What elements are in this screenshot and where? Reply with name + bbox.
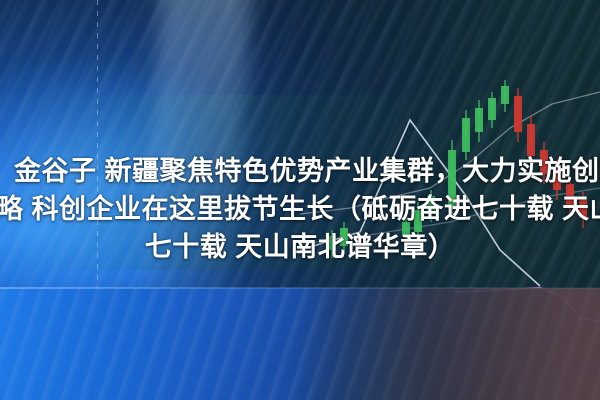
bottom-right-shadow (300, 288, 600, 400)
headline-clip: 金谷子 新疆聚焦特色优势产业集群，大力实施创新 略 科创企业在这里拔节生长（砥砺… (0, 152, 600, 266)
candle-body (514, 96, 522, 132)
headline-line-3: 七十载 天山南北谱华章） (0, 228, 600, 266)
candle-body (488, 98, 496, 120)
banner-image: 金谷子 新疆聚焦特色优势产业集群，大力实施创新 略 科创企业在这里拔节生长（砥砺… (0, 0, 600, 400)
headline-line-2: 略 科创企业在这里拔节生长（砥砺奋进七十载 天山南 (0, 190, 600, 228)
candle-body (501, 86, 509, 104)
band-seam-highlight (0, 287, 600, 289)
candle-body (475, 108, 483, 132)
headline: 金谷子 新疆聚焦特色优势产业集群，大力实施创新 略 科创企业在这里拔节生长（砥砺… (0, 152, 600, 266)
headline-line-1: 金谷子 新疆聚焦特色优势产业集群，大力实施创新 (14, 152, 600, 190)
candle-body (462, 118, 470, 152)
